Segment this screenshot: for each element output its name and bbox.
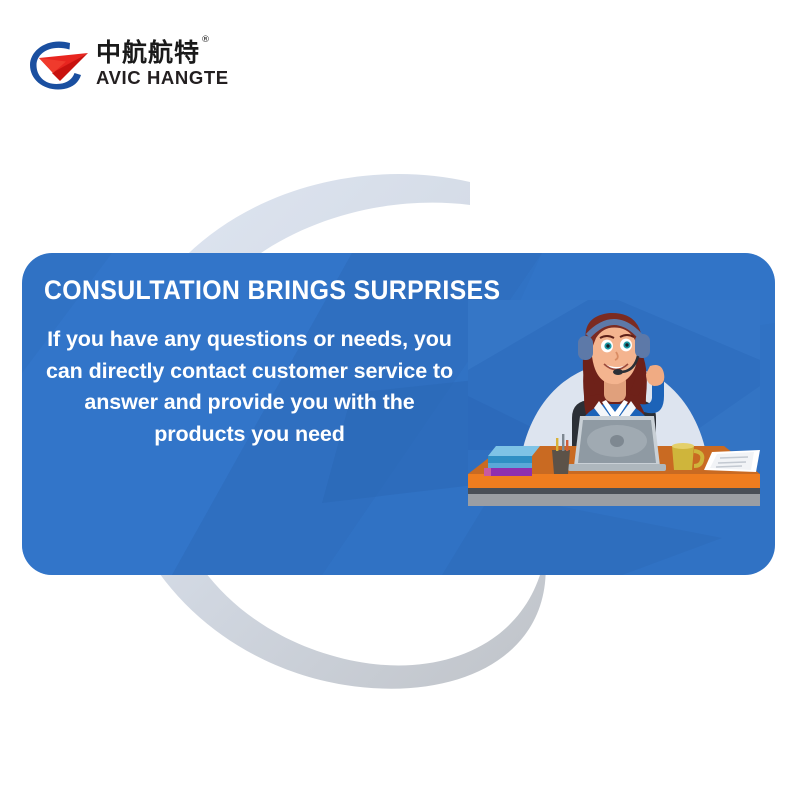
headset-earcup xyxy=(635,334,650,358)
avic-hangte-arc-arrow-logo-icon xyxy=(26,35,92,93)
pen xyxy=(562,434,564,451)
card-headline: CONSULTATION BRINGS SURPRISES xyxy=(44,275,442,306)
pen xyxy=(566,440,568,451)
poster-canvas: 中航航特® AVIC HANGTE CONSULTATION BRINGS SU… xyxy=(0,0,800,800)
pen-cup xyxy=(552,450,570,474)
brand-wordmark: 中航航特® AVIC HANGTE xyxy=(96,40,229,88)
brand-name-cn: 中航航特® xyxy=(96,40,229,65)
book-purple xyxy=(484,468,532,476)
brand-name-en: AVIC HANGTE xyxy=(96,69,229,88)
floor xyxy=(468,494,760,506)
desk-front xyxy=(468,474,760,488)
desk-shadow xyxy=(468,488,760,494)
brand-logo: 中航航特® AVIC HANGTE xyxy=(26,33,236,95)
card-text-block: CONSULTATION BRINGS SURPRISES If you hav… xyxy=(22,275,477,450)
registered-trademark-icon: ® xyxy=(201,35,211,45)
book-top xyxy=(488,446,540,456)
brand-name-cn-text: 中航航特 xyxy=(96,38,200,67)
coffee-mug xyxy=(672,446,694,470)
customer-service-illustration xyxy=(468,300,760,506)
consultation-card: CONSULTATION BRINGS SURPRISES If you hav… xyxy=(22,253,775,575)
headset-earcup xyxy=(578,336,593,360)
headset-mic xyxy=(613,369,623,375)
card-body-text: If you have any questions or needs, you … xyxy=(22,324,477,450)
pencil xyxy=(556,438,558,451)
laptop-base xyxy=(568,464,666,471)
